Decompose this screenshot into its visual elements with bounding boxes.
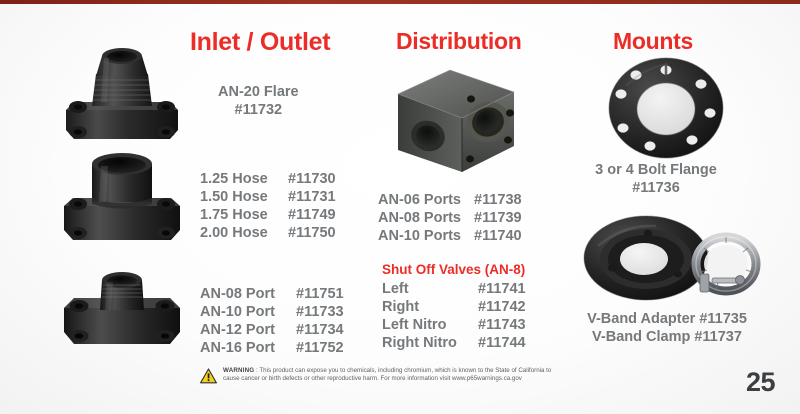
spec-line: AN-20 Flare (218, 83, 299, 101)
list-item: Left #11741 (382, 280, 526, 298)
spec-part-number: #11732 (218, 101, 299, 119)
item-label: AN-16 Port (200, 339, 296, 357)
product-image-threaded-port-flange-fitting (52, 266, 192, 360)
item-part-number: #11730 (288, 170, 336, 188)
list-item: Right #11742 (382, 298, 526, 316)
item-part-number: #11751 (296, 285, 344, 303)
list-item: AN-10 Port #11733 (200, 303, 344, 321)
list-item: AN-16 Port #11752 (200, 339, 344, 357)
item-part-number: #11741 (478, 280, 526, 298)
spec-list-distribution: AN-06 Ports #11738 AN-08 Ports #11739 AN… (378, 191, 522, 245)
list-item: 2.00 Hose #11750 (200, 224, 336, 242)
list-item: AN-10 Ports #11740 (378, 227, 522, 245)
item-label: Left (382, 280, 478, 298)
item-label: AN-12 Port (200, 321, 296, 339)
item-label: AN-06 Ports (378, 191, 474, 209)
list-item: AN-12 Port #11734 (200, 321, 344, 339)
list-item: Right Nitro #11744 (382, 334, 526, 352)
column-heading-distribution: Distribution (396, 28, 521, 55)
item-label: AN-10 Port (200, 303, 296, 321)
spec-list-hose: 1.25 Hose #11730 1.50 Hose #11731 1.75 H… (200, 170, 336, 242)
spec-an-20-flare: AN-20 Flare #11732 (218, 83, 299, 119)
item-label: Right (382, 298, 478, 316)
item-label: AN-08 Ports (378, 209, 474, 227)
item-part-number: #11752 (296, 339, 344, 357)
item-part-number: #11734 (296, 321, 344, 339)
list-item: 1.50 Hose #11731 (200, 188, 336, 206)
subheading-shut-off-valves: Shut Off Valves (AN-8) (382, 262, 525, 277)
warning-triangle-icon (200, 368, 217, 384)
item-label: AN-08 Port (200, 285, 296, 303)
item-part-number: #11733 (296, 303, 344, 321)
item-part-number: #11742 (478, 298, 526, 316)
column-heading-inlet-outlet: Inlet / Outlet (190, 28, 330, 57)
warning-line-2: cause cancer or birth defects or other r… (223, 375, 522, 382)
item-part-number: #11739 (474, 209, 522, 227)
page-top-accent-bar (0, 0, 800, 4)
warning-line-1: This product can expose you to chemicals… (259, 367, 551, 374)
spec-line: V-Band Clamp #11737 (578, 328, 756, 346)
page-number: 25 (746, 367, 775, 398)
spec-line: 3 or 4 Bolt Flange (578, 161, 734, 179)
item-part-number: #11738 (474, 191, 522, 209)
product-image-bolt-flange-ring (604, 56, 728, 160)
warning-label: WARNING (223, 367, 254, 374)
list-item: AN-08 Ports #11739 (378, 209, 522, 227)
list-item: AN-06 Ports #11738 (378, 191, 522, 209)
item-label: 1.50 Hose (200, 188, 288, 206)
item-label: Left Nitro (382, 316, 478, 334)
item-label: 2.00 Hose (200, 224, 288, 242)
item-part-number: #11750 (288, 224, 336, 242)
item-part-number: #11740 (474, 227, 522, 245)
list-item: Left Nitro #11743 (382, 316, 526, 334)
product-image-v-band-adapter-and-clamp (578, 212, 758, 308)
prop65-warning: WARNING : This product can expose you to… (200, 367, 650, 384)
spec-bolt-flange: 3 or 4 Bolt Flange #11736 (578, 161, 734, 197)
product-image-hose-barb-flange-fitting (52, 148, 192, 254)
spec-v-band: V-Band Adapter #11735 V-Band Clamp #1173… (578, 310, 756, 346)
item-label: 1.75 Hose (200, 206, 288, 224)
item-part-number: #11744 (478, 334, 526, 352)
item-label: Right Nitro (382, 334, 478, 352)
list-item: AN-08 Port #11751 (200, 285, 344, 303)
spec-part-number: #11736 (578, 179, 734, 197)
list-item: 1.25 Hose #11730 (200, 170, 336, 188)
spec-list-shut-off-valves: Left #11741 Right #11742 Left Nitro #117… (382, 280, 526, 352)
product-image-distribution-block (392, 66, 520, 180)
item-part-number: #11743 (478, 316, 526, 334)
product-image-an-20-flare-fitting (52, 44, 192, 160)
item-label: AN-10 Ports (378, 227, 474, 245)
list-item: 1.75 Hose #11749 (200, 206, 336, 224)
item-part-number: #11731 (288, 188, 336, 206)
spec-line: V-Band Adapter #11735 (578, 310, 756, 328)
column-heading-mounts: Mounts (613, 28, 693, 55)
item-label: 1.25 Hose (200, 170, 288, 188)
spec-list-port: AN-08 Port #11751 AN-10 Port #11733 AN-1… (200, 285, 344, 357)
item-part-number: #11749 (288, 206, 336, 224)
catalog-page: Inlet / Outlet Distribution Mounts (0, 0, 800, 414)
